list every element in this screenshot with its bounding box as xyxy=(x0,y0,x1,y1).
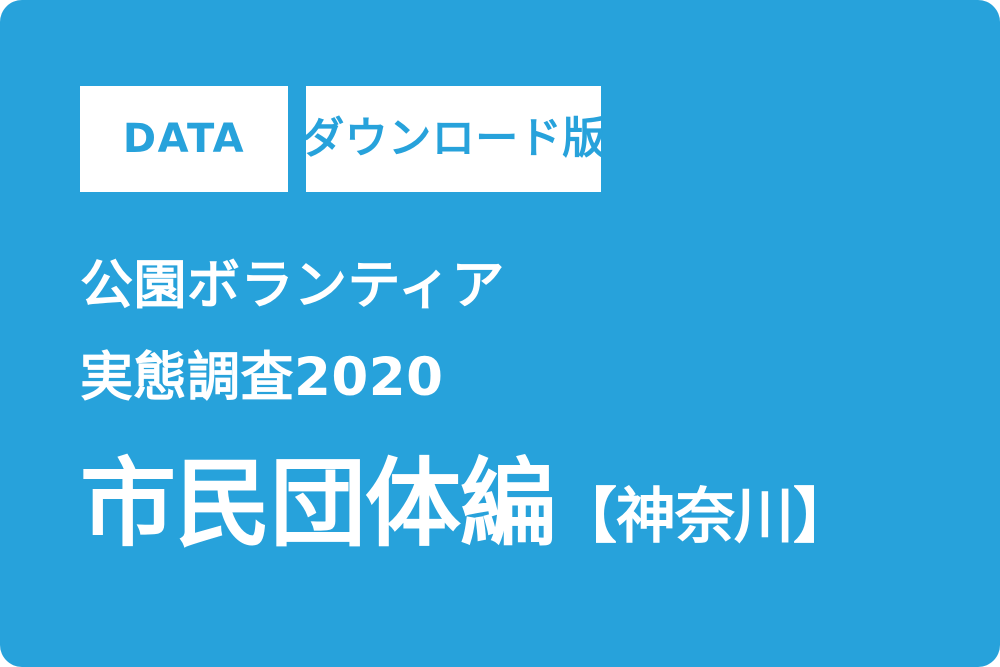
badge-download-version: ダウンロード版 xyxy=(306,86,601,192)
subtitle-line-1: 公園ボランティア xyxy=(80,240,505,332)
badge-row: DATA ダウンロード版 xyxy=(80,86,601,192)
cover-card: DATA ダウンロード版 公園ボランティア 実態調査2020 市民団体編 【神奈… xyxy=(0,0,1000,667)
badge-data-label: DATA xyxy=(123,119,245,159)
page-title: 市民団体編 【神奈川】 xyxy=(80,452,852,569)
page-title-region: 【神奈川】 xyxy=(557,465,852,569)
page-title-main: 市民団体編 xyxy=(80,452,555,556)
badge-data: DATA xyxy=(80,86,288,192)
subtitle-line-2: 実態調査2020 xyxy=(80,332,505,424)
badge-download-version-label: ダウンロード版 xyxy=(301,118,606,161)
subtitle-block: 公園ボランティア 実態調査2020 xyxy=(80,240,505,424)
